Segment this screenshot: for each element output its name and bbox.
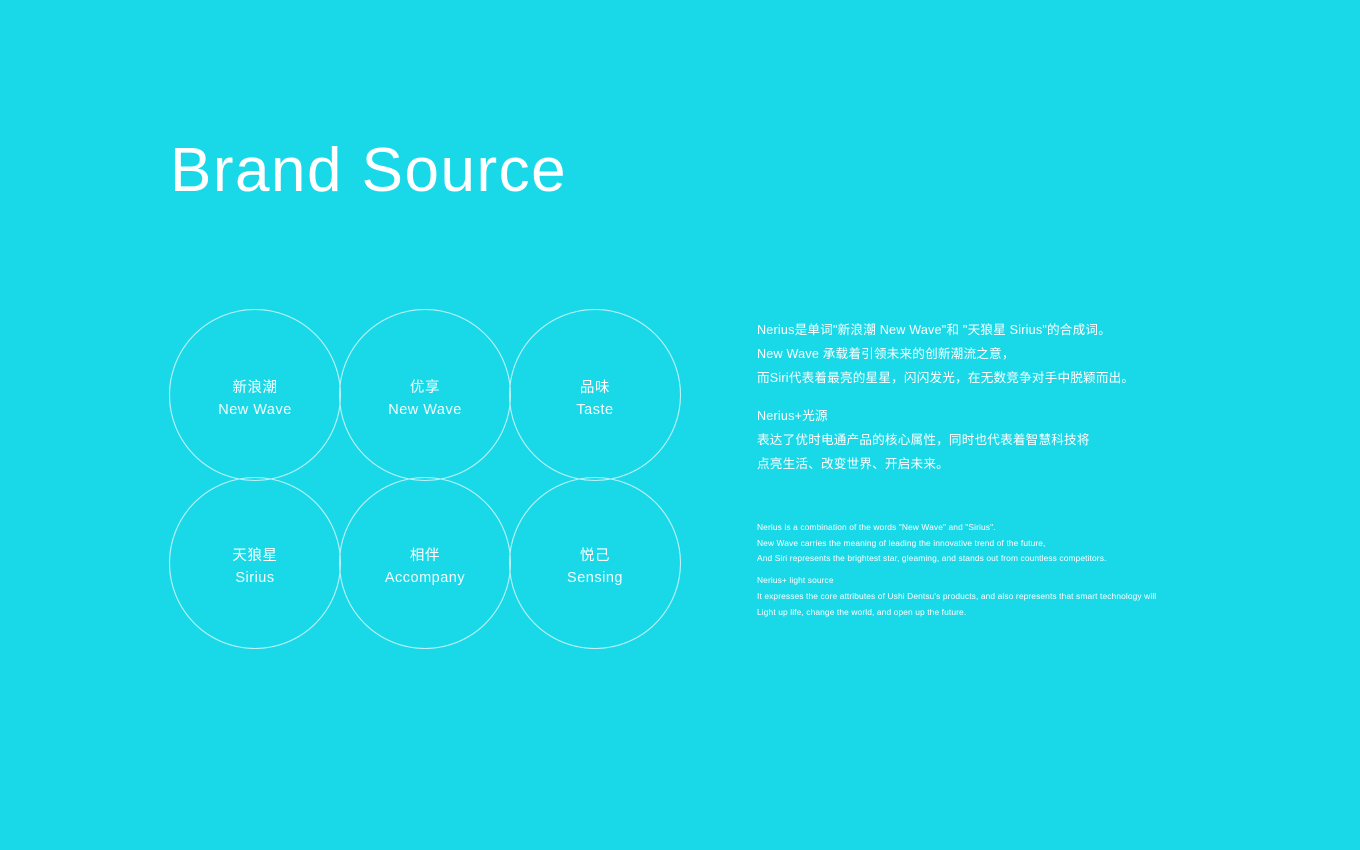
brand-source-venn-diagram: 新浪潮 New Wave 优享 New Wave 品味 Taste 天狼星 Si… xyxy=(169,309,683,649)
cn-p1-line-2: New Wave 承载着引领未来的创新潮流之意， xyxy=(757,342,1217,366)
venn-circle-1 xyxy=(170,310,341,481)
en-paragraph-1: Nerius is a combination of the words "Ne… xyxy=(757,520,1227,567)
venn-circle-2 xyxy=(340,310,511,481)
venn-circles-graphic xyxy=(169,309,683,649)
en-p1-line-1: Nerius is a combination of the words "Ne… xyxy=(757,520,1227,536)
page-title: Brand Source xyxy=(170,138,567,203)
en-p1-line-2: New Wave carries the meaning of leading … xyxy=(757,536,1227,552)
cn-paragraph-2: Nerius+光源 表达了优时电通产品的核心属性，同时也代表着智慧科技将 点亮生… xyxy=(757,404,1217,476)
venn-circle-6 xyxy=(510,478,681,649)
description-chinese: Nerius是单词"新浪潮 New Wave"和 "天狼星 Sirius"的合成… xyxy=(757,318,1217,476)
en-p2-line-2: It expresses the core attributes of Ushi… xyxy=(757,589,1227,605)
en-p2-line-3: Light up life, change the world, and ope… xyxy=(757,605,1227,621)
cn-paragraph-1: Nerius是单词"新浪潮 New Wave"和 "天狼星 Sirius"的合成… xyxy=(757,318,1217,390)
cn-p2-line-3: 点亮生活、改变世界、开启未来。 xyxy=(757,452,1217,476)
venn-circle-4 xyxy=(170,478,341,649)
cn-paragraph-spacer xyxy=(757,390,1217,404)
en-p1-line-3: And Siri represents the brightest star, … xyxy=(757,551,1227,567)
en-paragraph-2: Nerius+ light source It expresses the co… xyxy=(757,573,1227,620)
cn-p1-line-1: Nerius是单词"新浪潮 New Wave"和 "天狼星 Sirius"的合成… xyxy=(757,318,1217,342)
venn-circle-5 xyxy=(340,478,511,649)
slide-canvas: Brand Source 新浪潮 New Wave 优享 New Wave 品味… xyxy=(0,0,1360,850)
cn-p2-line-2: 表达了优时电通产品的核心属性，同时也代表着智慧科技将 xyxy=(757,428,1217,452)
cn-p2-line-1: Nerius+光源 xyxy=(757,404,1217,428)
description-english: Nerius is a combination of the words "Ne… xyxy=(757,520,1227,620)
venn-circle-3 xyxy=(510,310,681,481)
cn-p1-line-3: 而Siri代表着最亮的星星，闪闪发光，在无数竞争对手中脱颖而出。 xyxy=(757,366,1217,390)
en-p2-line-1: Nerius+ light source xyxy=(757,573,1227,589)
